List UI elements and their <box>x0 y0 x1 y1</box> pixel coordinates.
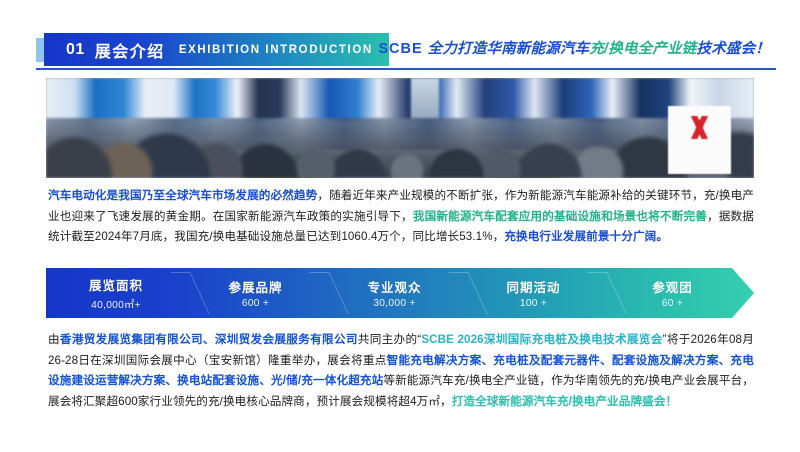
stats-bar: 展览面积 40,000㎡+ 参展品牌 600 + 专业观众 30,000 + 同… <box>46 268 754 318</box>
stat-item-4: 参观团 60 + <box>603 268 742 318</box>
stat-item-1: 参展品牌 600 + <box>186 268 325 318</box>
stat-label-3: 同期活动 <box>506 277 560 296</box>
stat-label-0: 展览面积 <box>89 275 143 294</box>
intro-highlight-3: 充换电行业发展前景十分广阔。 <box>504 230 668 243</box>
headline-highlight: 充/换电全产业链 <box>589 41 696 57</box>
section-number: 01 <box>66 41 85 59</box>
photo-layer <box>46 78 754 178</box>
headline: SCBE 全力打造华南新能源汽车充/换电全产业链技术盛会！ <box>378 37 770 58</box>
summary-event-name: SCBE 2026深圳国际充电桩及换电技术展览会 <box>421 333 662 346</box>
photo-crowd <box>46 122 754 178</box>
stat-value-3: 100 + <box>520 298 547 309</box>
summary-paragraph: 由香港贸发展览集团有限公司、深圳贸发会展服务有限公司共同主办的“SCBE 202… <box>48 330 754 412</box>
stat-item-3: 同期活动 100 + <box>464 268 603 318</box>
photo-entrance-door <box>411 78 439 122</box>
stat-value-1: 600 + <box>242 298 269 309</box>
stat-label-4: 参观团 <box>652 277 693 296</box>
header-divider-rule <box>36 68 776 70</box>
stat-value-0: 40,000㎡+ <box>91 296 141 311</box>
headline-brand: SCBE <box>378 41 427 57</box>
summary-organizers: 香港贸发展览集团有限公司、深圳贸发会展服务有限公司 <box>60 333 358 346</box>
stat-item-0: 展览面积 40,000㎡+ <box>46 268 186 318</box>
intro-highlight-1: 汽车电动化是我国乃至全球汽车市场发展的必然趋势 <box>48 189 317 202</box>
stat-label-1: 参展品牌 <box>228 277 282 296</box>
summary-closing: 打造全球新能源汽车充/换电产业品牌盛会！ <box>452 395 678 408</box>
headline-part1: 全力打造华南新能源汽车 <box>428 41 590 57</box>
intro-paragraph: 汽车电动化是我国乃至全球汽车市场发展的必然趋势，随着近年来产业规模的不断扩张，作… <box>48 186 754 248</box>
exhibition-photo <box>46 78 754 178</box>
section-title-cn: 展会介绍 <box>95 38 165 62</box>
stat-item-2: 专业观众 30,000 + <box>325 268 464 318</box>
summary-text-1: 由 <box>48 333 60 346</box>
summary-text-2: 共同主办的“ <box>358 333 422 346</box>
headline-part2: 技术盛会！ <box>697 41 771 57</box>
section-title-en: EXHIBITION INTRODUCTION <box>179 44 373 56</box>
section-tag: 01 展会介绍 EXHIBITION INTRODUCTION <box>44 33 389 66</box>
photo-banner-logo <box>668 106 732 174</box>
stat-value-4: 60 + <box>662 298 683 309</box>
stat-value-2: 30,000 + <box>373 298 415 309</box>
intro-highlight-2: 我国新能源汽车配套应用的基础设施和场景也将不断完善 <box>413 210 707 223</box>
stat-label-2: 专业观众 <box>367 277 421 296</box>
slide-page: 01 展会介绍 EXHIBITION INTRODUCTION SCBE 全力打… <box>0 0 800 452</box>
section-header: 01 展会介绍 EXHIBITION INTRODUCTION SCBE 全力打… <box>0 33 800 67</box>
